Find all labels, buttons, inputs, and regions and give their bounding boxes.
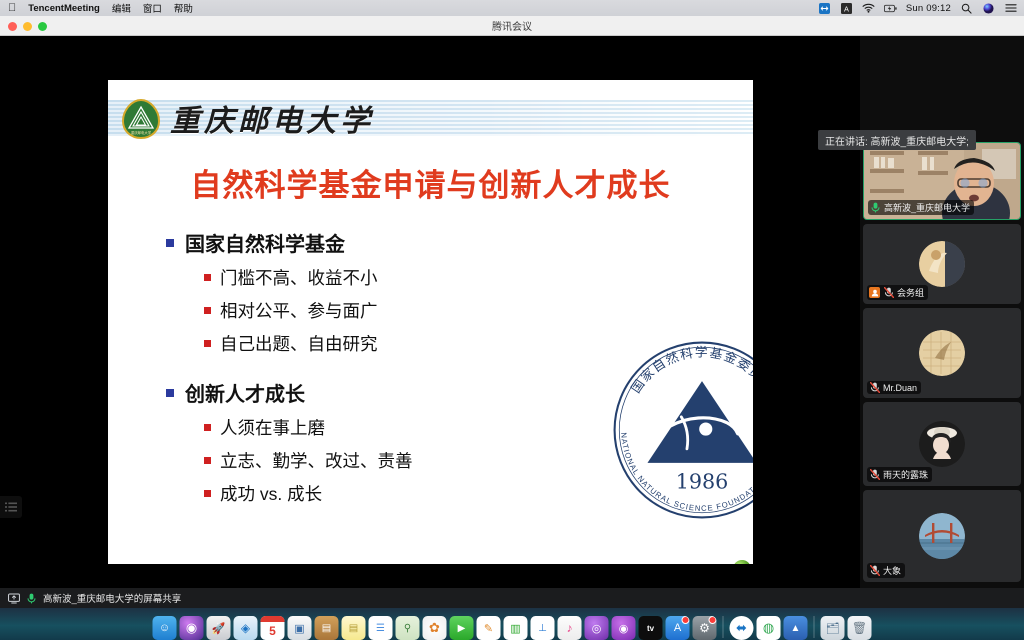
update-badge [709, 616, 717, 624]
menubar-clock[interactable]: Sun 09:12 [906, 3, 951, 14]
bullet-square-red-icon [204, 307, 211, 314]
host-badge-icon [869, 287, 880, 298]
bullet-level2-text: 门槛不高、收益不小 [220, 265, 378, 290]
cqupt-emblem-icon: 重庆邮电大学 [120, 98, 162, 140]
flower-icon: ✿ [423, 616, 447, 640]
bullet-level1-text: 创新人才成长 [185, 378, 305, 407]
screen-share-icon[interactable] [7, 593, 20, 604]
participant-tile[interactable]: Mr.Duan [863, 308, 1021, 398]
bullet-level2-text: 人须在事上磨 [220, 415, 325, 440]
dock-item-app-store[interactable]: A [666, 616, 690, 640]
participant-label: 大象 [867, 563, 905, 578]
battery-charging-icon[interactable] [884, 3, 897, 14]
bullet-level1: 创新人才成长 [166, 378, 566, 407]
svg-text:1986: 1986 [676, 469, 729, 493]
list-icon: ☰ [369, 616, 393, 640]
bullet-level1: 国家自然科学基金 [166, 228, 566, 257]
dock-item-pages[interactable]: ✎ [477, 616, 501, 640]
dock-item-notes[interactable]: ▤ [342, 616, 366, 640]
bullet-level2: 成功 vs. 成长 [204, 481, 566, 506]
pen-icon: ✎ [477, 616, 501, 640]
bullet-level2-text: 自己出题、自由研究 [220, 331, 378, 356]
menu-item-help[interactable]: 帮助 [174, 1, 193, 15]
window-title-bar: 腾讯会议 [0, 16, 1024, 36]
image-icon: ▣ [288, 616, 312, 640]
avatar [919, 241, 965, 287]
bullet-level2: 人须在事上磨 [204, 415, 566, 440]
note-icon: ▤ [342, 616, 366, 640]
panel-list-icon[interactable] [0, 496, 22, 518]
folder-icon: 🗂 [821, 616, 845, 640]
bullet-square-blue-icon [166, 239, 174, 247]
rocket-icon: 🚀 [207, 616, 231, 640]
macos-menu-bar:  TencentMeeting 编辑 窗口 帮助 A [0, 0, 1024, 16]
dock-item-maps[interactable]: ⚲ [396, 616, 420, 640]
minimize-button[interactable] [23, 22, 32, 31]
zoom-button[interactable] [38, 22, 47, 31]
chrome-icon: ◍ [757, 616, 781, 640]
bar-chart-icon: ▥ [504, 616, 528, 640]
dock-item-apple-tv[interactable]: tv [639, 616, 663, 640]
mic-off-icon [869, 382, 880, 393]
dock-item-itunes[interactable]: ◎ [585, 616, 609, 640]
svg-text:重庆邮电大学: 重庆邮电大学 [131, 130, 152, 135]
control-center-icon[interactable] [1004, 3, 1017, 14]
apple-logo-icon[interactable]:  [8, 3, 16, 14]
music-note-icon: ♪ [558, 616, 582, 640]
decorative-spheres-icon [728, 555, 753, 564]
teamviewer-icon: ⬌ [730, 616, 754, 640]
shared-screen-area[interactable]: 重庆邮电大学 重庆邮电大学 自然科学基金申请与创新人才成长 国家自然科学基金 [0, 36, 860, 588]
dock-item-preview[interactable]: ▣ [288, 616, 312, 640]
podcast-icon: ◉ [612, 616, 636, 640]
participant-label: Mr.Duan [867, 381, 921, 394]
video-camera-icon: ▶ [450, 616, 474, 640]
teamviewer-icon[interactable] [818, 3, 831, 14]
speaking-tooltip: 正在讲话: 高新波_重庆邮电大学; [818, 130, 976, 150]
bullet-level2: 立志、勤学、改过、责善 [204, 448, 566, 473]
dock-item-facetime[interactable]: ▶ [450, 616, 474, 640]
participant-label: 会务组 [867, 285, 928, 300]
desktop-strip: ☺ ◉ 🚀 ◈ 5 ▣ ▤ ▤ ☰ ⚲ ✿ [0, 608, 1024, 640]
bullet-square-red-icon [204, 424, 211, 431]
bullet-level2-text: 立志、勤学、改过、责善 [220, 448, 413, 473]
meeting-body: 重庆邮电大学 重庆邮电大学 自然科学基金申请与创新人才成长 国家自然科学基金 [0, 36, 1024, 608]
dock-item-reminders[interactable]: ☰ [369, 616, 393, 640]
participant-tile-speaking[interactable]: 高新波_重庆邮电大学 [863, 142, 1021, 220]
slide-title: 自然科学基金申请与创新人才成长 [108, 160, 753, 205]
dock-separator [723, 616, 724, 638]
mic-on-icon[interactable] [25, 593, 38, 604]
dock-item-chrome[interactable]: ◍ [757, 616, 781, 640]
dock-item-downloads-stack[interactable]: 🗂 [821, 616, 845, 640]
bullet-square-red-icon [204, 340, 211, 347]
bullet-square-red-icon [204, 274, 211, 281]
bullet-square-blue-icon [166, 389, 174, 397]
bullet-level1-text: 国家自然科学基金 [185, 228, 345, 257]
participant-tile[interactable]: 大象 [863, 490, 1021, 582]
avatar [919, 330, 965, 376]
dock-item-tencent-meeting[interactable]: ▲ [784, 616, 808, 640]
bullet-square-red-icon [204, 490, 211, 497]
nsfc-seal-icon: 1986 国家自然科学基金委员会 NATIONAL NATURAL SCIENC… [604, 336, 753, 524]
presentation-slide: 重庆邮电大学 重庆邮电大学 自然科学基金申请与创新人才成长 国家自然科学基金 [108, 80, 753, 564]
map-pin-icon: ⚲ [396, 616, 420, 640]
bullet-level2-text: 成功 vs. 成长 [220, 481, 322, 506]
podium-icon: ⊥ [531, 616, 555, 640]
bullet-level2: 相对公平、参与面广 [204, 298, 566, 323]
dock-item-photos[interactable]: ✿ [423, 616, 447, 640]
circle-icon: ◎ [585, 616, 609, 640]
avatar [919, 421, 965, 467]
participant-name: 大象 [883, 564, 901, 577]
dock-item-system-preferences[interactable]: ⚙ [693, 616, 717, 640]
menu-item-window[interactable]: 窗口 [143, 1, 162, 15]
trash-icon: 🗑 [848, 616, 872, 640]
participant-tile[interactable]: 会务组 [863, 224, 1021, 304]
book-icon: ▤ [315, 616, 339, 640]
bullet-group-2: 创新人才成长 人须在事上磨 立志、勤学、改过、责善 成功 vs. 成长 [166, 378, 566, 506]
bullet-level2: 门槛不高、收益不小 [204, 265, 566, 290]
participant-name: 高新波_重庆邮电大学 [884, 201, 970, 214]
update-badge [682, 616, 690, 624]
dock-item-calendar[interactable]: 5 [261, 616, 285, 640]
close-button[interactable] [8, 22, 17, 31]
participant-rail[interactable]: 高新波_重庆邮电大学 [860, 36, 1024, 588]
siri-icon[interactable] [982, 3, 995, 14]
dock-item-contacts[interactable]: ▤ [315, 616, 339, 640]
university-name: 重庆邮电大学 [170, 96, 374, 140]
dock-item-podcasts[interactable]: ◉ [612, 616, 636, 640]
bullet-level2-text: 相对公平、参与面广 [220, 298, 378, 323]
dock-item-finder[interactable]: ☺ [153, 616, 177, 640]
menu-item-edit[interactable]: 编辑 [112, 1, 131, 15]
bullet-group-1: 国家自然科学基金 门槛不高、收益不小 相对公平、参与面广 自己出题、自 [166, 228, 566, 356]
slide-header: 重庆邮电大学 重庆邮电大学 [108, 80, 753, 142]
dock-item-numbers[interactable]: ▥ [504, 616, 528, 640]
svg-text:国家自然科学基金委员会: 国家自然科学基金委员会 [628, 345, 753, 396]
mic-off-icon [869, 469, 880, 480]
wifi-icon[interactable] [862, 3, 875, 14]
menu-app-name[interactable]: TencentMeeting [28, 3, 100, 14]
dock-item-safari[interactable]: ◈ [234, 616, 258, 640]
macos-dock[interactable]: ☺ ◉ 🚀 ◈ 5 ▣ ▤ ▤ ☰ ⚲ ✿ [147, 610, 878, 640]
dock-item-keynote[interactable]: ⊥ [531, 616, 555, 640]
dock-item-siri[interactable]: ◉ [180, 616, 204, 640]
bullet-square-red-icon [204, 457, 211, 464]
dock-item-launchpad[interactable]: 🚀 [207, 616, 231, 640]
mic-off-icon [883, 287, 894, 298]
mic-on-icon [870, 202, 881, 213]
tencent-meeting-icon: ▲ [784, 616, 808, 640]
dock-separator [814, 616, 815, 638]
finder-icon: ☺ [153, 616, 177, 640]
input-source-icon[interactable]: A [840, 3, 853, 14]
window-title: 腾讯会议 [492, 18, 532, 33]
dock-item-trash[interactable]: 🗑 [848, 616, 872, 640]
participant-tile[interactable]: 雨天的露珠 [863, 402, 1021, 486]
slide-bullets: 国家自然科学基金 门槛不高、收益不小 相对公平、参与面广 自己出题、自 [166, 228, 566, 506]
siri-icon: ◉ [180, 616, 204, 640]
bullet-level2: 自己出题、自由研究 [204, 331, 566, 356]
participant-label: 雨天的露珠 [867, 467, 932, 482]
spotlight-search-icon[interactable] [960, 3, 973, 14]
dock-item-teamviewer[interactable]: ⬌ [730, 616, 754, 640]
dock-item-music[interactable]: ♪ [558, 616, 582, 640]
compass-icon: ◈ [234, 616, 258, 640]
mic-off-icon [869, 565, 880, 576]
share-status-text: 高新波_重庆邮电大学的屏幕共享 [43, 591, 181, 605]
participant-label: 高新波_重庆邮电大学 [868, 200, 974, 215]
svg-text:A: A [844, 4, 849, 13]
participant-name: 会务组 [897, 286, 924, 299]
avatar [919, 513, 965, 559]
meeting-status-bar: 高新波_重庆邮电大学的屏幕共享 [0, 588, 1024, 608]
screen:  TencentMeeting 编辑 窗口 帮助 A [0, 0, 1024, 640]
participant-name: 雨天的露珠 [883, 468, 928, 481]
apple-tv-icon: tv [639, 616, 663, 640]
participant-name: Mr.Duan [883, 383, 917, 393]
window-controls[interactable] [8, 22, 47, 31]
